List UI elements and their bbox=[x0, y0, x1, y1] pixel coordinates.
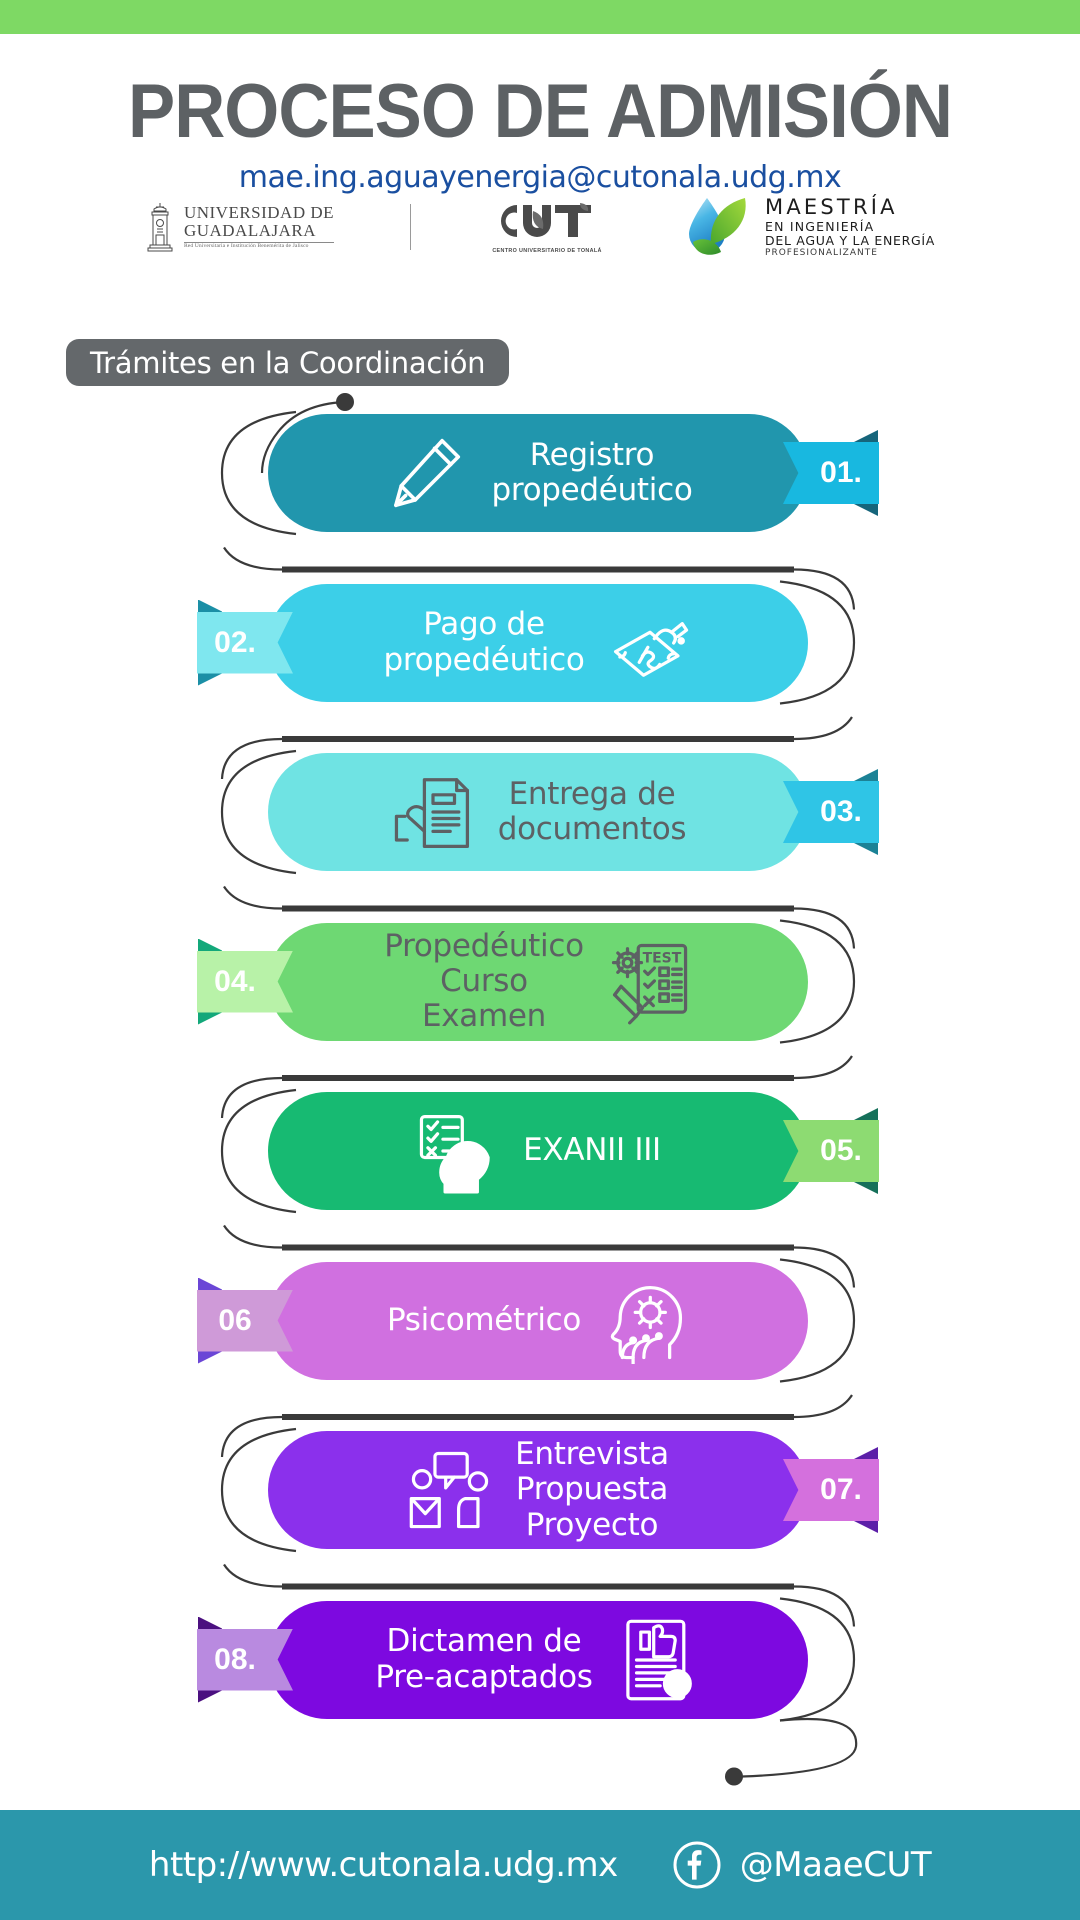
interview-icon bbox=[407, 1447, 493, 1533]
step-content: Entrega de documentos bbox=[268, 753, 808, 871]
svg-text:TEST: TEST bbox=[642, 950, 681, 966]
footer-website-link[interactable]: http://www.cutonala.udg.mx bbox=[149, 1845, 618, 1885]
step-content: Entrevista Propuesta Proyecto bbox=[268, 1431, 808, 1549]
step-content: Dictamen de Pre-acaptados bbox=[268, 1601, 808, 1719]
process-step-2[interactable]: 02.Pago de propedéutico bbox=[268, 584, 808, 702]
step-label-5: EXANII III bbox=[523, 1133, 661, 1168]
head-gear-icon bbox=[603, 1278, 689, 1364]
footer-social[interactable]: @MaaeCUT bbox=[672, 1840, 931, 1890]
step-number-label: 01. bbox=[820, 456, 862, 490]
process-step-4[interactable]: 04.Propedéutico Curso Examen TEST bbox=[268, 923, 808, 1041]
footer: http://www.cutonala.udg.mx @MaaeCUT bbox=[0, 1810, 1080, 1920]
step-label-7: Entrevista Propuesta Proyecto bbox=[515, 1437, 669, 1543]
step-number-label: 02. bbox=[214, 626, 256, 660]
step-number-label: 04. bbox=[214, 965, 256, 999]
money-hand-icon bbox=[607, 600, 693, 686]
pencil-icon bbox=[383, 430, 469, 516]
test-sheet-icon: TEST bbox=[606, 939, 692, 1025]
step-number-label: 06 bbox=[218, 1304, 251, 1338]
process-step-1[interactable]: 01. Registro propedéutico bbox=[268, 414, 808, 532]
process-step-7[interactable]: 07. Entrevista Propuesta Proyecto bbox=[268, 1431, 808, 1549]
step-content: Registro propedéutico bbox=[268, 414, 808, 532]
step-content: Pago de propedéutico bbox=[268, 584, 808, 702]
step-label-2: Pago de propedéutico bbox=[383, 607, 584, 678]
step-label-4: Propedéutico Curso Examen bbox=[384, 929, 584, 1035]
document-hand-icon bbox=[390, 769, 476, 855]
process-step-5[interactable]: 05. EXANII III bbox=[268, 1092, 808, 1210]
approved-document-icon bbox=[615, 1617, 701, 1703]
step-content: Propedéutico Curso Examen TEST bbox=[268, 923, 808, 1041]
step-number-label: 08. bbox=[214, 1643, 256, 1677]
step-label-3: Entrega de documentos bbox=[498, 777, 687, 848]
step-number-label: 03. bbox=[820, 795, 862, 829]
head-checklist-icon bbox=[415, 1108, 501, 1194]
step-label-8: Dictamen de Pre-acaptados bbox=[375, 1624, 592, 1695]
process-step-3[interactable]: 03. Entrega de documentos bbox=[268, 753, 808, 871]
process-step-6[interactable]: 06Psicométrico bbox=[268, 1262, 808, 1380]
process-steps-list: 01. Registro propedéutico02.Pago de prop… bbox=[0, 0, 1080, 1920]
step-number-label: 07. bbox=[820, 1473, 862, 1507]
step-content: EXANII III bbox=[268, 1092, 808, 1210]
step-content: Psicométrico bbox=[268, 1262, 808, 1380]
facebook-icon[interactable] bbox=[672, 1840, 722, 1890]
step-label-1: Registro propedéutico bbox=[491, 438, 692, 509]
footer-handle: @MaaeCUT bbox=[740, 1845, 931, 1885]
step-number-label: 05. bbox=[820, 1134, 862, 1168]
step-label-6: Psicométrico bbox=[387, 1303, 581, 1338]
process-step-8[interactable]: 08.Dictamen de Pre-acaptados bbox=[268, 1601, 808, 1719]
